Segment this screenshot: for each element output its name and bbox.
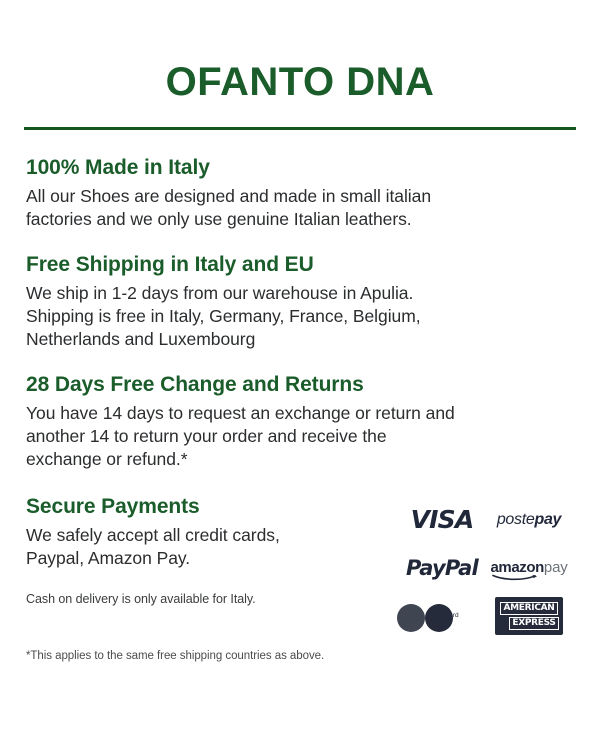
postepay-icon: postepay: [497, 511, 561, 529]
amazon-label-part2: pay: [544, 559, 568, 576]
section-body-line: exchange or refund.*: [26, 448, 574, 471]
section-secure-payments: Secure Payments We safely accept all cre…: [26, 495, 574, 633]
amex-label-line1: AMERICAN: [500, 602, 557, 615]
title-divider: [24, 127, 576, 130]
amex-logo-cell: AMERICAN EXPRESS: [488, 599, 570, 633]
section-body-line: All our Shoes are designed and made in s…: [26, 185, 574, 208]
section-body: We ship in 1-2 days from our warehouse i…: [26, 282, 574, 351]
amazon-pay-logo-cell: amazonpay: [488, 551, 570, 585]
section-body: You have 14 days to request an exchange …: [26, 402, 574, 471]
footnote: *This applies to the same free shipping …: [26, 650, 324, 662]
cash-on-delivery-note: Cash on delivery is only available for I…: [26, 592, 280, 606]
ofanto-dna-info-panel: OFANTO DNA 100% Made in Italy All our Sh…: [0, 0, 600, 750]
mastercard-left-circle: [425, 604, 453, 632]
section-heading: Secure Payments: [26, 495, 280, 519]
section-body-line: factories and we only use genuine Italia…: [26, 208, 574, 231]
section-body-line: We ship in 1-2 days from our warehouse i…: [26, 282, 574, 305]
section-body-line: Paypal, Amazon Pay.: [26, 547, 280, 570]
paypal-icon: PayPal: [406, 556, 478, 580]
section-body-line: another 14 to return your order and rece…: [26, 425, 574, 448]
secure-payments-text: Secure Payments We safely accept all cre…: [26, 495, 280, 606]
paypal-logo-cell: PayPal: [406, 551, 478, 585]
amex-label-line2: EXPRESS: [509, 617, 558, 630]
section-heading: 28 Days Free Change and Returns: [26, 373, 574, 397]
section-change-and-returns: 28 Days Free Change and Returns You have…: [26, 373, 574, 471]
section-free-shipping: Free Shipping in Italy and EU We ship in…: [26, 253, 574, 351]
visa-icon: VISA: [411, 505, 474, 534]
mastercard-logo-cell: mastercard: [406, 599, 478, 633]
section-body-line: You have 14 days to request an exchange …: [26, 402, 574, 425]
mastercard-right-circle: [397, 604, 425, 632]
american-express-icon: AMERICAN EXPRESS: [495, 597, 563, 635]
postepay-logo-cell: postepay: [488, 503, 570, 537]
section-body-line: Shipping is free in Italy, Germany, Fran…: [26, 305, 574, 328]
postepay-label-part1: poste: [497, 511, 535, 528]
section-body: We safely accept all credit cards, Paypa…: [26, 524, 280, 570]
visa-logo-cell: VISA: [406, 503, 478, 537]
section-body-line: We safely accept all credit cards,: [26, 524, 280, 547]
amazon-pay-icon: amazonpay: [490, 560, 567, 575]
feature-sections: 100% Made in Italy All our Shoes are des…: [22, 156, 578, 633]
payment-logos: VISA postepay PayPal amazonpay: [406, 495, 574, 633]
section-heading: 100% Made in Italy: [26, 156, 574, 180]
section-body: All our Shoes are designed and made in s…: [26, 185, 574, 231]
section-body-line: Netherlands and Luxembourg: [26, 328, 574, 351]
amazon-smile-icon: [492, 574, 538, 581]
mastercard-icon: mastercard: [425, 613, 459, 620]
section-heading: Free Shipping in Italy and EU: [26, 253, 574, 277]
postepay-label-part2: pay: [534, 511, 561, 528]
page-title: OFANTO DNA: [22, 0, 578, 102]
section-made-in-italy: 100% Made in Italy All our Shoes are des…: [26, 156, 574, 231]
